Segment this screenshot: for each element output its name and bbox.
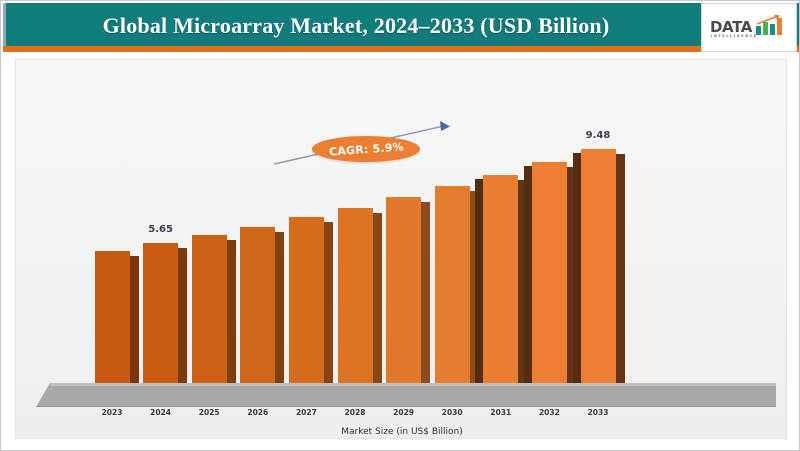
bar-front-face bbox=[581, 149, 616, 383]
bar-front-face bbox=[435, 186, 470, 383]
bar-front-face bbox=[192, 235, 227, 383]
x-tick-2032: 2032 bbox=[525, 408, 573, 417]
bar-front-face bbox=[240, 227, 275, 383]
bar-front-face bbox=[532, 162, 567, 383]
bar-depth-face bbox=[178, 248, 187, 383]
x-tick-2030: 2030 bbox=[428, 408, 476, 417]
bar-front-face bbox=[289, 217, 324, 383]
bar-2028[interactable] bbox=[338, 208, 373, 383]
x-tick-2024: 2024 bbox=[137, 408, 185, 417]
logo-arrow-icon bbox=[756, 14, 786, 26]
bar-front-face bbox=[338, 208, 373, 383]
bar-depth-face bbox=[275, 232, 284, 383]
bar-front-face bbox=[95, 251, 130, 383]
bar-depth-face bbox=[324, 222, 333, 383]
bar-front-face bbox=[386, 197, 421, 383]
x-tick-2027: 2027 bbox=[282, 408, 330, 417]
x-tick-2031: 2031 bbox=[477, 408, 525, 417]
header-accent-stripe bbox=[3, 46, 799, 52]
bar-value-label-2033: 9.48 bbox=[586, 130, 611, 141]
chart-canvas: 5.659.48 CAGR: 5.9% Market Size (in US$ … bbox=[15, 59, 787, 439]
x-tick-2023: 2023 bbox=[88, 408, 136, 417]
bar-2032[interactable] bbox=[532, 162, 567, 383]
bar-series: 5.659.48 bbox=[16, 60, 788, 440]
x-axis-title: Market Size (in US$ Billion) bbox=[16, 427, 788, 437]
x-tick-2033: 2033 bbox=[574, 408, 622, 417]
bar-2025[interactable] bbox=[192, 235, 227, 383]
header-banner: Global Microarray Market, 2024–2033 (USD… bbox=[3, 3, 799, 48]
bar-depth-face bbox=[130, 256, 139, 383]
bar-depth-face bbox=[227, 240, 236, 383]
x-tick-2025: 2025 bbox=[185, 408, 233, 417]
bar-depth-face bbox=[373, 213, 382, 383]
x-tick-2028: 2028 bbox=[331, 408, 379, 417]
bar-2027[interactable] bbox=[289, 217, 324, 383]
bar-2029[interactable] bbox=[386, 197, 421, 383]
bar-2031[interactable] bbox=[483, 175, 518, 383]
bar-2024[interactable]: 5.65 bbox=[143, 243, 178, 383]
bar-front-face bbox=[483, 175, 518, 383]
brand-logo: DATA INTELLIGENCE bbox=[701, 3, 797, 52]
logo-inner: DATA INTELLIGENCE bbox=[710, 13, 788, 43]
bar-2023[interactable] bbox=[95, 251, 130, 383]
page-title: Global Microarray Market, 2024–2033 (USD… bbox=[6, 3, 706, 48]
bar-value-label-2024: 5.65 bbox=[148, 224, 173, 235]
bar-front-face bbox=[143, 243, 178, 383]
cagr-badge: CAGR: 5.9% bbox=[312, 136, 420, 162]
x-tick-2029: 2029 bbox=[380, 408, 428, 417]
bar-depth-face bbox=[421, 202, 430, 383]
logo-tagline: INTELLIGENCE bbox=[711, 34, 758, 38]
bar-2026[interactable] bbox=[240, 227, 275, 383]
bar-2033[interactable]: 9.48 bbox=[581, 149, 616, 383]
bar-depth-face bbox=[616, 154, 625, 383]
cagr-badge-label: CAGR: 5.9% bbox=[328, 140, 404, 158]
chart-page: Global Microarray Market, 2024–2033 (USD… bbox=[0, 0, 800, 451]
x-tick-2026: 2026 bbox=[234, 408, 282, 417]
bar-2030[interactable] bbox=[435, 186, 470, 383]
